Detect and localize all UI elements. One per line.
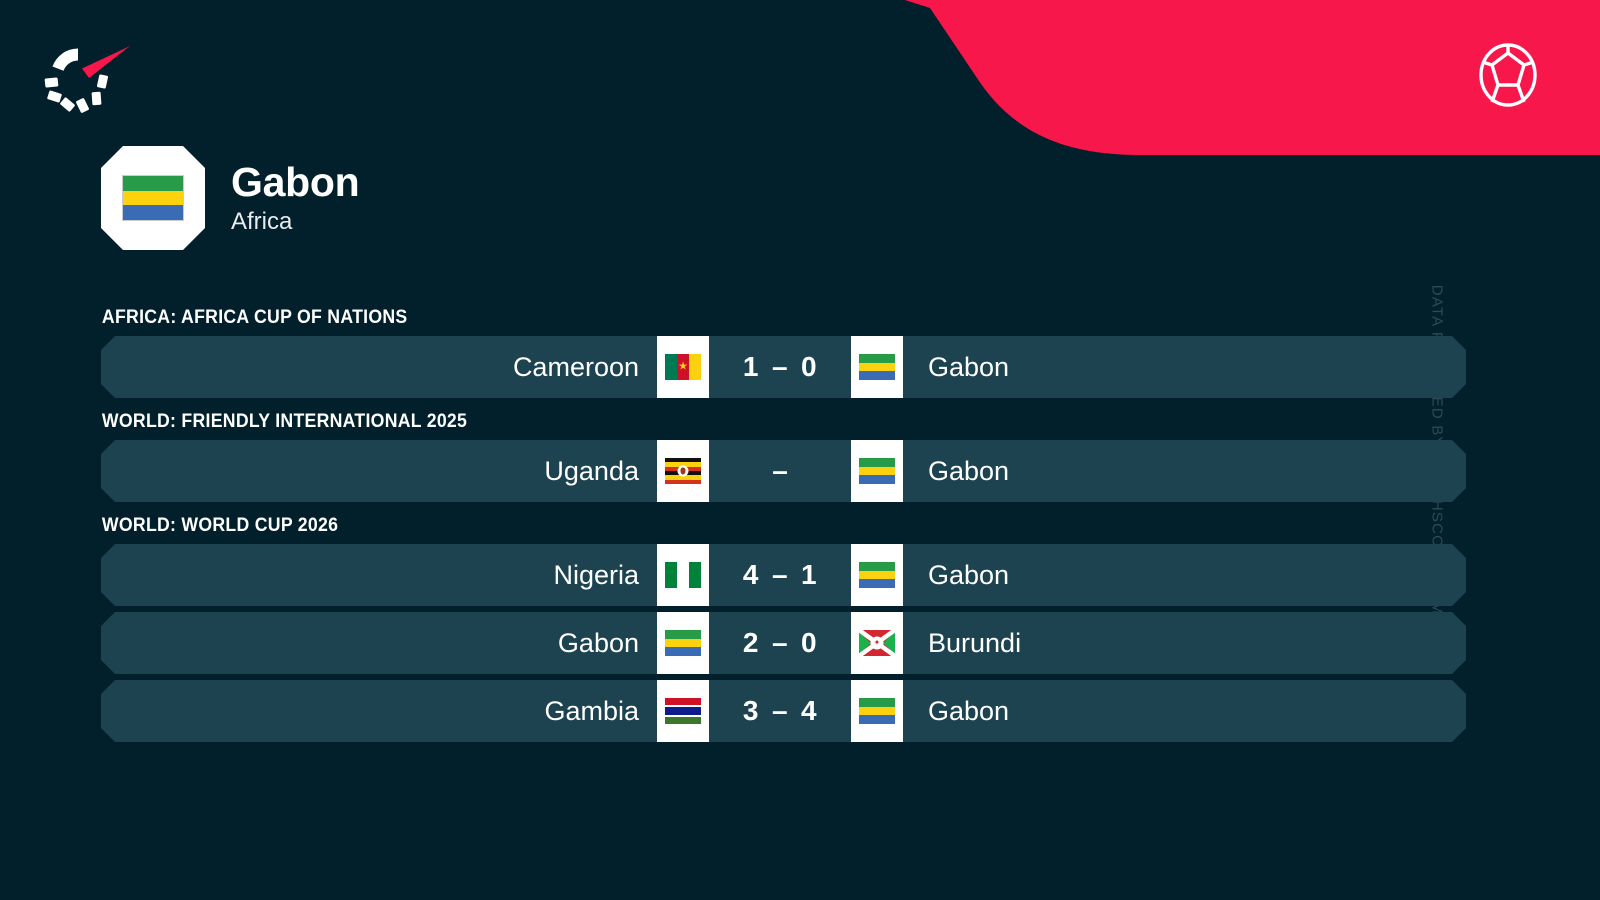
home-flag-cell [657,680,709,742]
team-badge [101,146,205,250]
match-section: WORLD: FRIENDLY INTERNATIONAL 2025Uganda… [101,404,1466,502]
away-score: 1 [801,559,817,591]
away-team-name: Gabon [903,336,1466,398]
cameroon-flag-icon: ★ [665,354,701,380]
home-team-name: Gambia [101,680,657,742]
team-header: Gabon Africa [101,146,359,250]
away-flag-cell: ✦ [851,612,903,674]
away-team-name: Gabon [903,544,1466,606]
home-score: 4 [743,559,759,591]
home-team-name: Gabon [101,612,657,674]
gabon-flag-icon [859,562,895,588]
flashscore-logo[interactable] [42,36,138,114]
home-team-name: Nigeria [101,544,657,606]
home-score: 2 [743,627,759,659]
away-score: 0 [801,627,817,659]
uganda-flag-icon [665,458,701,484]
away-score: 0 [801,351,817,383]
home-team-name: Uganda [101,440,657,502]
gambia-flag-icon [665,698,701,724]
away-team-name: Gabon [903,440,1466,502]
score-separator: – [772,351,788,383]
match-row[interactable]: Nigeria4–1Gabon [101,544,1466,606]
match-section: WORLD: WORLD CUP 2026Nigeria4–1GabonGabo… [101,508,1466,742]
gabon-flag-icon [859,698,895,724]
match-row[interactable]: Gambia3–4Gabon [101,680,1466,742]
gabon-flag-icon [122,175,184,221]
section-title[interactable]: WORLD: FRIENDLY INTERNATIONAL 2025 [101,404,1370,440]
home-score: 3 [743,695,759,727]
match-row[interactable]: Cameroon★1–0Gabon [101,336,1466,398]
home-team-name: Cameroon [101,336,657,398]
away-flag-cell [851,440,903,502]
matches-list: AFRICA: AFRICA CUP OF NATIONSCameroon★1–… [101,300,1466,748]
score-separator: – [772,695,788,727]
home-flag-cell: ★ [657,336,709,398]
gabon-flag-icon [859,458,895,484]
away-team-name: Gabon [903,680,1466,742]
away-flag-cell [851,336,903,398]
home-flag-cell [657,440,709,502]
away-score: 4 [801,695,817,727]
gabon-flag-icon [859,354,895,380]
nigeria-flag-icon [665,562,701,588]
gabon-flag-icon [665,630,701,656]
home-flag-cell [657,544,709,606]
page-root: Gabon Africa DATA PROVIDED BY: FLASHSCOR… [0,0,1600,900]
team-region: Africa [231,208,359,237]
match-row[interactable]: Uganda–Gabon [101,440,1466,502]
score-separator: – [772,559,788,591]
away-flag-cell [851,544,903,606]
burundi-flag-icon: ✦ [859,630,895,656]
header-banner [0,0,1600,160]
page-title: Gabon [231,160,359,206]
score-placeholder: – [709,440,851,502]
score-separator: – [772,627,788,659]
match-section: AFRICA: AFRICA CUP OF NATIONSCameroon★1–… [101,300,1466,398]
score: 3–4 [709,680,851,742]
match-row[interactable]: Gabon2–0✦Burundi [101,612,1466,674]
score: 4–1 [709,544,851,606]
soccer-ball-icon [1478,42,1538,108]
away-team-name: Burundi [903,612,1466,674]
section-title[interactable]: AFRICA: AFRICA CUP OF NATIONS [101,300,1370,336]
away-flag-cell [851,680,903,742]
home-score: 1 [743,351,759,383]
home-flag-cell [657,612,709,674]
section-title[interactable]: WORLD: WORLD CUP 2026 [101,508,1370,544]
score: 2–0 [709,612,851,674]
score: 1–0 [709,336,851,398]
